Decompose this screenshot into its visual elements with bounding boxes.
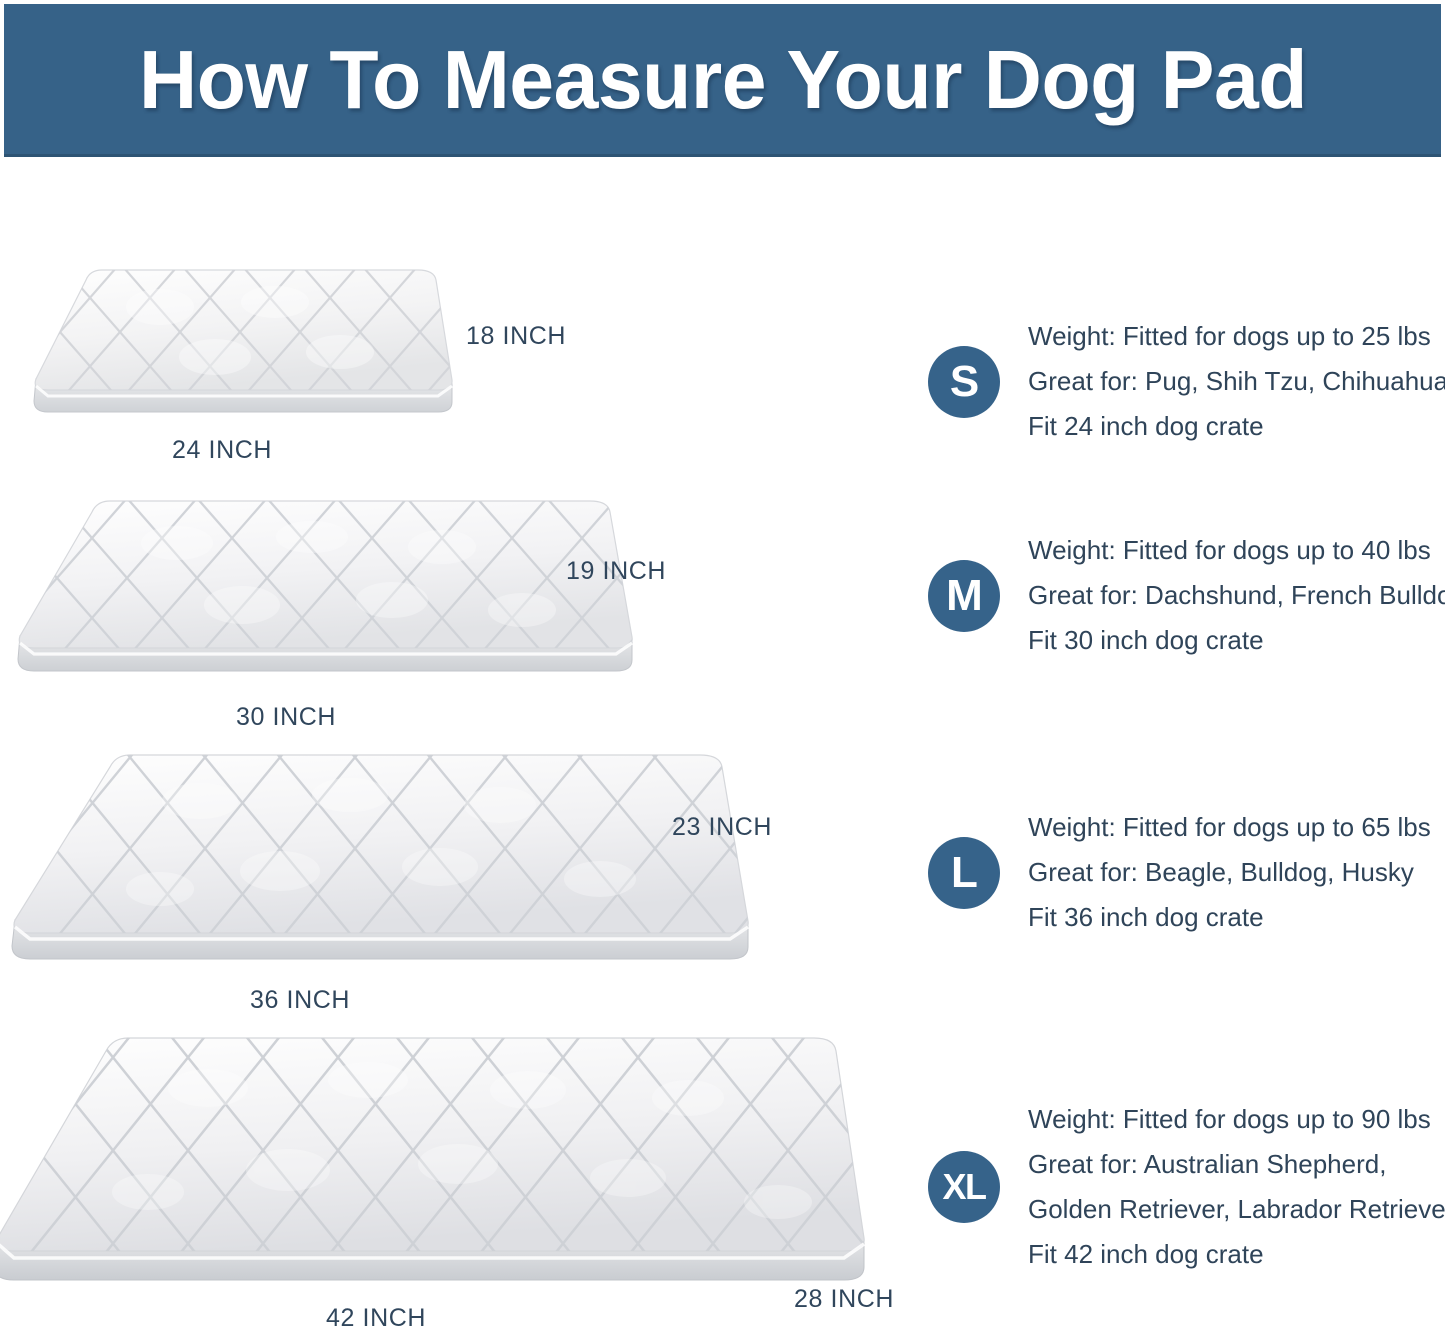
size-weight-line-l: Weight: Fitted for dogs up to 65 lbs bbox=[1028, 805, 1431, 850]
pad-illustration-xlarge bbox=[0, 1032, 918, 1302]
size-info-large: L Weight: Fitted for dogs up to 65 lbs G… bbox=[928, 805, 1431, 940]
size-breeds-line2-xl: Golden Retriever, Labrador Retriever bbox=[1028, 1187, 1445, 1232]
size-description-small: Weight: Fitted for dogs up to 25 lbs Gre… bbox=[1028, 314, 1445, 449]
size-description-large: Weight: Fitted for dogs up to 65 lbs Gre… bbox=[1028, 805, 1431, 940]
size-description-medium: Weight: Fitted for dogs up to 40 lbs Gre… bbox=[1028, 528, 1445, 663]
pad-illustration-large bbox=[0, 749, 770, 979]
size-breeds-line-xl: Great for: Australian Shepherd, bbox=[1028, 1142, 1445, 1187]
size-weight-line-xl: Weight: Fitted for dogs up to 90 lbs bbox=[1028, 1097, 1445, 1142]
size-badge-m: M bbox=[928, 560, 1000, 632]
dimension-label-depth-medium: 19 INCH bbox=[566, 557, 666, 586]
size-badge-s: S bbox=[928, 346, 1000, 418]
size-breeds-line-s: Great for: Pug, Shih Tzu, Chihuahua bbox=[1028, 359, 1445, 404]
size-crate-line-l: Fit 36 inch dog crate bbox=[1028, 895, 1431, 940]
size-breeds-line-m: Great for: Dachshund, French Bulldog bbox=[1028, 573, 1445, 618]
size-info-xlarge: XL Weight: Fitted for dogs up to 90 lbs … bbox=[928, 1097, 1445, 1277]
size-info-medium: M Weight: Fitted for dogs up to 40 lbs G… bbox=[928, 528, 1445, 663]
dimension-label-width-xlarge: 42 INCH bbox=[326, 1304, 426, 1333]
size-info-small: S Weight: Fitted for dogs up to 25 lbs G… bbox=[928, 314, 1445, 449]
size-weight-line-s: Weight: Fitted for dogs up to 25 lbs bbox=[1028, 314, 1445, 359]
page-title: How To Measure Your Dog Pad bbox=[139, 38, 1307, 121]
pad-row-small: 18 INCH 24 INCH bbox=[0, 262, 900, 462]
size-description-xlarge: Weight: Fitted for dogs up to 90 lbs Gre… bbox=[1028, 1097, 1445, 1277]
size-badge-l: L bbox=[928, 837, 1000, 909]
header-banner: How To Measure Your Dog Pad bbox=[4, 4, 1441, 157]
pad-size-chart: 18 INCH 24 INCH bbox=[0, 157, 1445, 1323]
pad-row-medium: 19 INCH 30 INCH bbox=[0, 495, 900, 725]
pad-row-xlarge: 28 INCH 42 INCH bbox=[0, 1032, 930, 1322]
dimension-label-depth-xlarge: 28 INCH bbox=[794, 1285, 894, 1314]
size-crate-line-s: Fit 24 inch dog crate bbox=[1028, 404, 1445, 449]
pad-illustration-small bbox=[10, 262, 460, 432]
size-crate-line-xl: Fit 42 inch dog crate bbox=[1028, 1232, 1445, 1277]
dimension-label-depth-large: 23 INCH bbox=[672, 813, 772, 842]
dimension-label-width-large: 36 INCH bbox=[250, 986, 350, 1015]
size-weight-line-m: Weight: Fitted for dogs up to 40 lbs bbox=[1028, 528, 1445, 573]
pad-illustration-medium bbox=[2, 495, 652, 695]
dimension-label-width-small: 24 INCH bbox=[172, 436, 272, 465]
size-breeds-line-l: Great for: Beagle, Bulldog, Husky bbox=[1028, 850, 1431, 895]
size-crate-line-m: Fit 30 inch dog crate bbox=[1028, 618, 1445, 663]
dimension-label-width-medium: 30 INCH bbox=[236, 703, 336, 732]
size-badge-xl: XL bbox=[928, 1151, 1000, 1223]
dimension-label-depth-small: 18 INCH bbox=[466, 322, 566, 351]
pad-row-large: 23 INCH 36 INCH bbox=[0, 749, 900, 1009]
